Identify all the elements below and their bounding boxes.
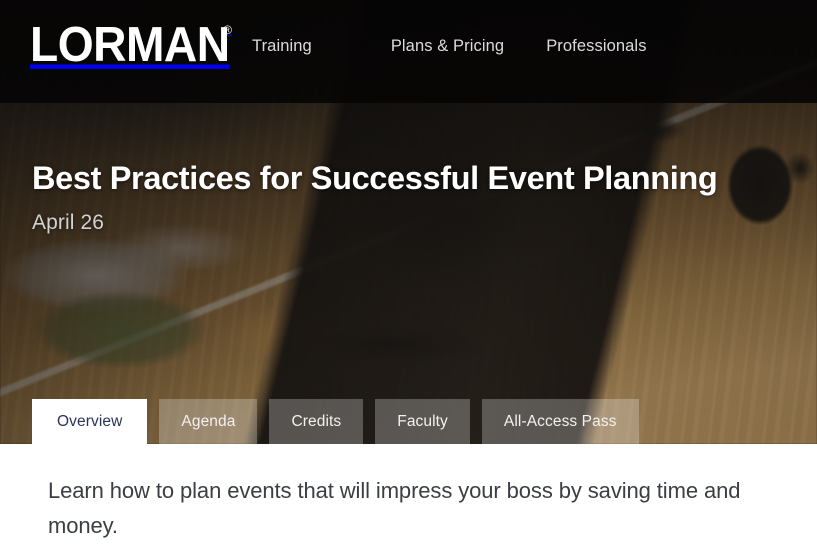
course-description: Learn how to plan events that will impre… (48, 474, 774, 544)
site-header: LORMAN ® Training Plans & Pricing Profes… (0, 0, 817, 103)
nav-item-training[interactable]: Training (252, 34, 312, 59)
page-title: Best Practices for Successful Event Plan… (32, 160, 717, 197)
primary-navigation: Training Plans & Pricing Professionals (252, 34, 647, 59)
site-header-inner: LORMAN ® Training Plans & Pricing Profes… (0, 0, 817, 103)
event-date: April 26 (32, 211, 717, 235)
tab-agenda[interactable]: Agenda (159, 399, 257, 444)
tab-credits-label: Credits (291, 413, 341, 431)
tab-faculty-label: Faculty (397, 413, 448, 431)
tab-all-access-pass[interactable]: All-Access Pass (482, 399, 639, 444)
logo-wordmark: LORMAN (30, 23, 230, 68)
nav-item-professionals[interactable]: Professionals (546, 34, 646, 59)
lorman-logo[interactable]: LORMAN ® (30, 23, 232, 63)
tab-credits[interactable]: Credits (269, 399, 363, 444)
tab-bar: Overview Agenda Credits Faculty All-Acce… (32, 399, 639, 444)
tab-faculty[interactable]: Faculty (375, 399, 470, 444)
tab-agenda-label: Agenda (181, 413, 235, 431)
tab-overview[interactable]: Overview (32, 399, 147, 444)
hero-text-block: Best Practices for Successful Event Plan… (32, 160, 717, 235)
nav-item-plans-and-pricing[interactable]: Plans & Pricing (391, 34, 504, 59)
tab-overview-label: Overview (57, 413, 122, 431)
main-content: Learn how to plan events that will impre… (0, 444, 817, 545)
tab-all-access-pass-label: All-Access Pass (504, 413, 617, 431)
page-root: Best Practices for Successful Event Plan… (0, 0, 817, 545)
